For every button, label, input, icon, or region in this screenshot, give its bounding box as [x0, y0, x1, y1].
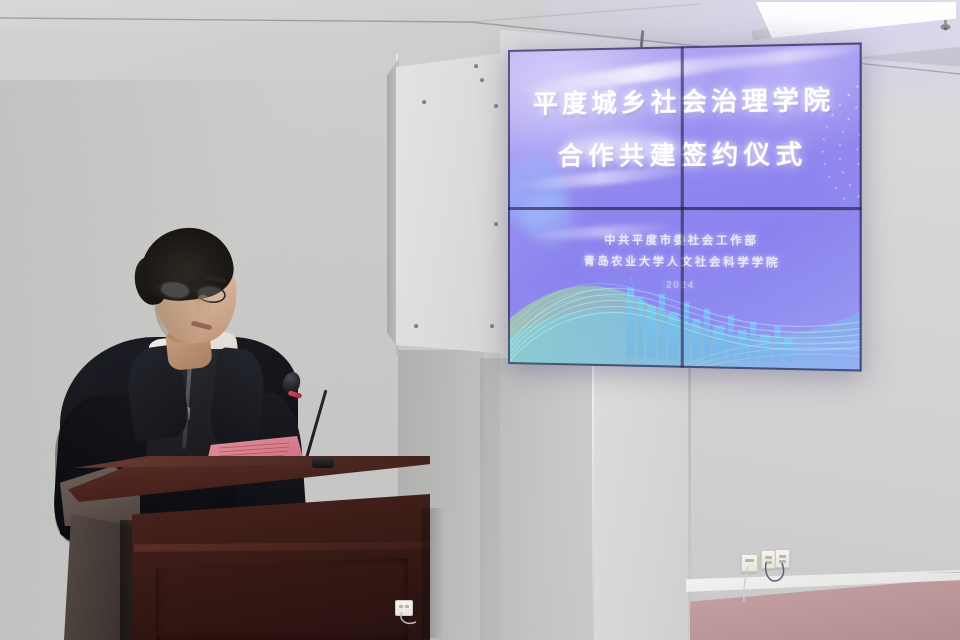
- screw-icon: [494, 104, 498, 108]
- outlet-center-cable: [392, 612, 422, 640]
- display-mount-panel: [396, 52, 510, 354]
- wall-column: [594, 358, 690, 640]
- outlet-slot: [779, 555, 786, 558]
- conference-room-scene: 平度城乡社会治理学院 合作共建签约仪式 中共平度市委社会工作部 青岛农业大学人文…: [0, 0, 960, 640]
- jack-cable: [736, 566, 756, 604]
- screw-icon: [490, 324, 494, 328]
- screw-icon: [414, 324, 418, 328]
- screw-icon: [422, 100, 426, 104]
- podium-right-shadow: [422, 508, 444, 638]
- screw-icon: [474, 64, 478, 68]
- screw-icon: [480, 78, 484, 82]
- wooden-podium: [60, 448, 435, 640]
- microphone-base: [312, 458, 334, 468]
- outlet-cable: [758, 563, 790, 593]
- screw-icon: [494, 222, 498, 226]
- display-frame: [508, 42, 862, 371]
- video-wall-display[interactable]: 平度城乡社会治理学院 合作共建签约仪式 中共平度市委社会工作部 青岛农业大学人文…: [508, 42, 862, 371]
- outlet-slot: [399, 605, 403, 608]
- outlet-slot: [405, 605, 409, 608]
- column-shadow: [480, 358, 595, 640]
- podium-inset-panel: [156, 558, 408, 640]
- wall-seam-right: [688, 362, 691, 640]
- fire-sprinkler-icon: [940, 20, 951, 32]
- jack-slot: [745, 559, 754, 562]
- wall-seam-left: [592, 360, 594, 640]
- outlet-slot: [765, 556, 772, 559]
